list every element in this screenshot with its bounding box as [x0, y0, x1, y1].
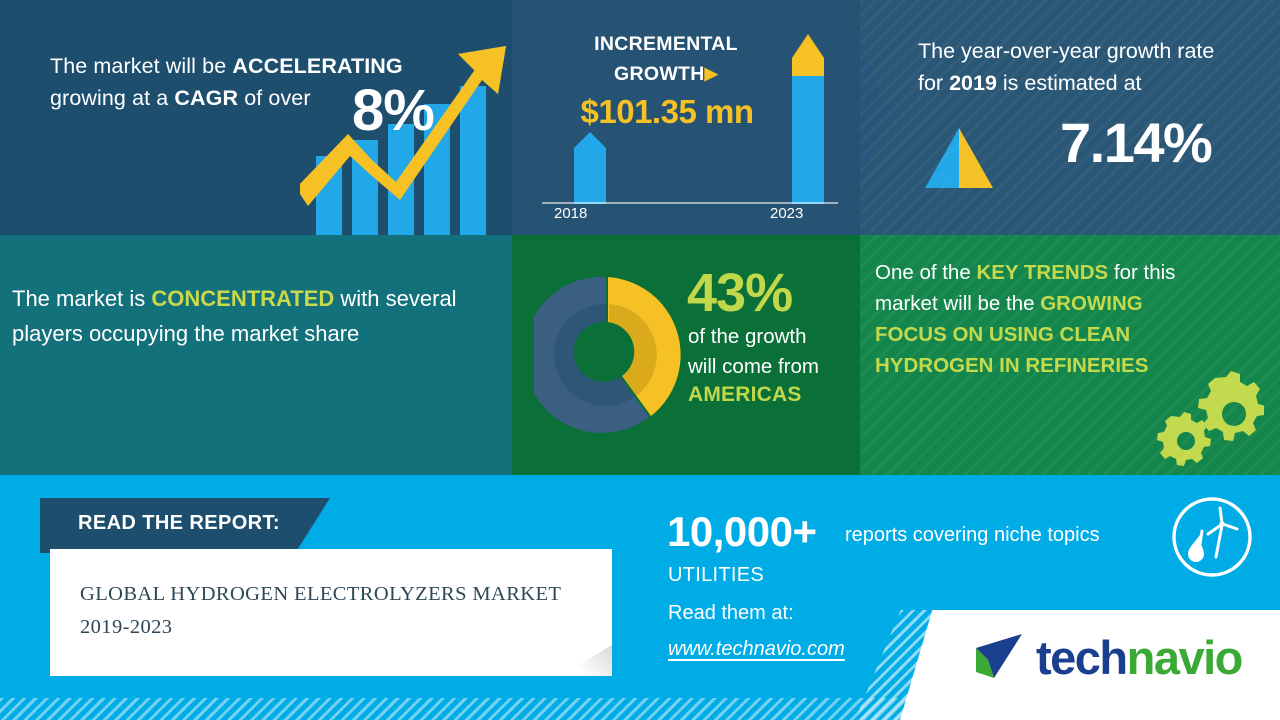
- logo-wordmark: technavio: [1036, 634, 1242, 681]
- panel-chevron-icon: [860, 38, 905, 188]
- panel-region-share: 43% of the growth will come from AMERICA…: [512, 235, 860, 475]
- incremental-value: $101.35 mn: [522, 93, 812, 131]
- concentration-statement: The market is CONCENTRATED with several …: [12, 281, 506, 351]
- yoy-line2-bold: 2019: [949, 71, 997, 95]
- report-title-line2: 2019-2023: [80, 616, 172, 638]
- technavio-url-link[interactable]: www.technavio.com: [668, 638, 845, 661]
- trend-seg3: for this: [1108, 261, 1175, 284]
- trend-seg5: GROWING: [1040, 292, 1143, 315]
- cagr-line2-bold: CAGR: [174, 86, 238, 110]
- region-donut-chart: [534, 260, 684, 450]
- incremental-title: INCREMENTAL GROWTH▶: [516, 30, 816, 89]
- panel-key-trends: One of the KEY TRENDS for this market wi…: [860, 235, 1280, 475]
- region-share-value: 43%: [687, 262, 792, 324]
- axis-label-2018: 2018: [554, 205, 587, 222]
- yoy-value: 7.14%: [1060, 110, 1211, 175]
- technavio-arrow-icon: [972, 632, 1028, 682]
- report-title-text: GLOBAL HYDROGEN ELECTROLYZERS MARKET 201…: [80, 578, 590, 644]
- region-name: AMERICAS: [688, 383, 802, 407]
- yoy-statement: The year-over-year growth rate for 2019 …: [918, 35, 1258, 99]
- read-them-at-label: Read them at:: [668, 602, 794, 625]
- axis-label-2023: 2023: [770, 205, 803, 222]
- wind-turbine-water-drop-icon: [1170, 495, 1254, 579]
- trends-statement: One of the KEY TRENDS for this market wi…: [875, 257, 1275, 381]
- row-middle: The market is CONCENTRATED with several …: [0, 235, 1280, 475]
- report-title-line1: GLOBAL HYDROGEN ELECTROLYZERS MARKET: [80, 583, 561, 605]
- conc-line1-pre: The market is: [12, 286, 151, 311]
- cagr-line1-pre: The market will be: [50, 54, 232, 78]
- bar-2023-icon: [784, 34, 832, 204]
- incremental-title-line1: INCREMENTAL: [594, 33, 738, 55]
- sector-label: UTILITIES: [668, 564, 764, 587]
- region-sub-line1: of the growth: [688, 325, 807, 348]
- triangle-growth-icon: [925, 128, 993, 188]
- infographic-canvas: The market will be ACCELERATING growing …: [0, 0, 1280, 720]
- incremental-title-line2: GROWTH: [614, 63, 705, 85]
- reports-caption: reports covering niche topics: [845, 524, 1100, 547]
- conc-line1-highlight: CONCENTRATED: [151, 286, 334, 311]
- trend-seg1: One of the: [875, 261, 976, 284]
- incremental-axis-line: [542, 202, 838, 204]
- trend-seg6: FOCUS ON USING CLEAN: [875, 323, 1130, 346]
- panel-incremental-growth: INCREMENTAL GROWTH▶ $101.35 mn 2018 2023: [512, 0, 860, 235]
- logo-navio-part: navio: [1127, 631, 1242, 684]
- region-share-caption: of the growth will come from: [688, 322, 860, 382]
- conc-line1-post: with several: [334, 286, 456, 311]
- panel-market-concentration: The market is CONCENTRATED with several …: [0, 235, 512, 475]
- trend-seg2: KEY TRENDS: [976, 261, 1108, 284]
- yoy-line2-post: is estimated at: [997, 71, 1142, 95]
- yoy-line2-pre: for: [918, 71, 949, 95]
- technavio-logo[interactable]: technavio: [972, 632, 1242, 682]
- yoy-line1: The year-over-year growth rate: [918, 39, 1214, 63]
- reports-count: 10,000+: [667, 508, 817, 556]
- conc-line2: players occupying the market share: [12, 321, 359, 346]
- cagr-value: 8%: [352, 82, 434, 140]
- row-top: The market will be ACCELERATING growing …: [0, 0, 1280, 235]
- trend-seg7: HYDROGEN IN REFINERIES: [875, 354, 1148, 377]
- logo-tech-part: tech: [1036, 631, 1127, 684]
- trend-seg4: market will be the: [875, 292, 1040, 315]
- cagr-line2-pre: growing at a: [50, 86, 174, 110]
- panel-cagr: The market will be ACCELERATING growing …: [0, 0, 512, 235]
- gears-icon: [1154, 371, 1264, 467]
- region-sub-line2: will come from: [688, 355, 819, 378]
- bar-2018-icon: [568, 132, 612, 204]
- panel-yoy-growth: The year-over-year growth rate for 2019 …: [860, 0, 1280, 235]
- read-the-report-label: READ THE REPORT:: [78, 512, 280, 535]
- play-triangle-icon: ▶: [705, 59, 718, 88]
